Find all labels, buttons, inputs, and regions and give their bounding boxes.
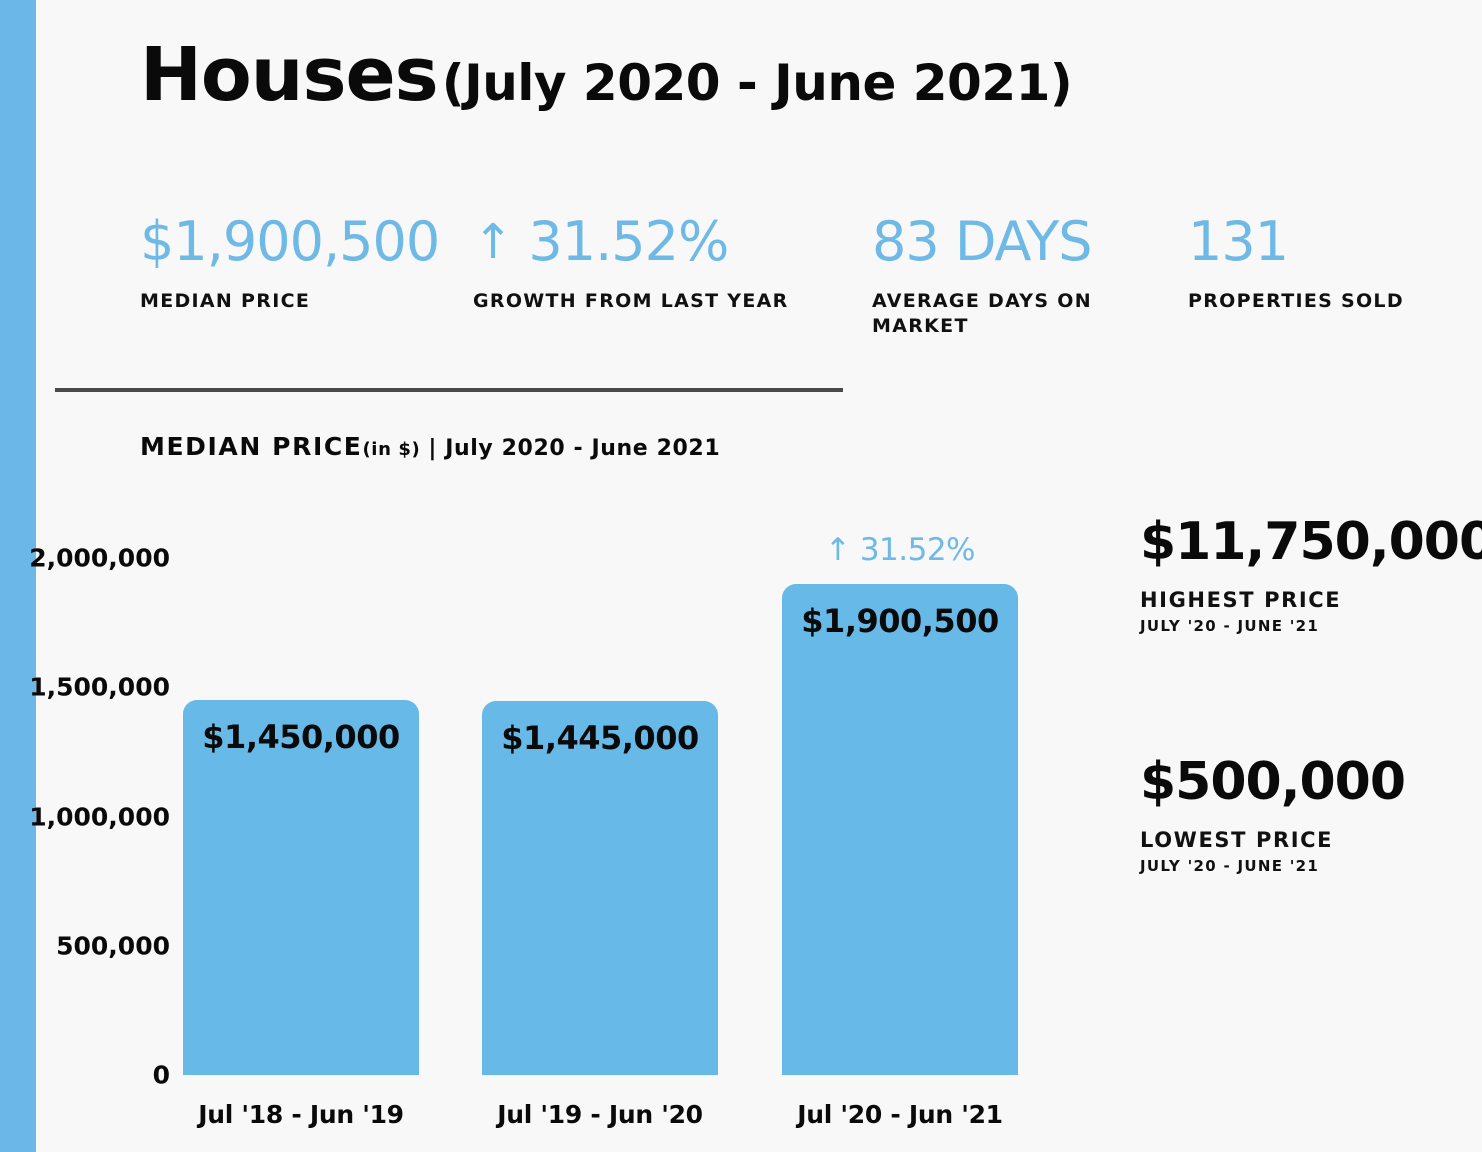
chart-bar-value-label: $1,900,500 (782, 602, 1018, 640)
chart-bar-growth-annotation: ↑ 31.52% (782, 532, 1018, 568)
section-divider (55, 388, 843, 392)
kpi-properties-sold: 131 PROPERTIES SOLD (1188, 214, 1448, 314)
lowest-price-stat: $500,000 LOWEST PRICE JULY '20 - JUNE '2… (1140, 756, 1480, 875)
chart-heading-range-text: July 2020 - June 2021 (445, 436, 720, 461)
lowest-price-period: JULY '20 - JUNE '21 (1140, 857, 1480, 875)
chart-heading: MEDIAN PRICE (in $) | July 2020 - June 2… (140, 432, 720, 461)
chart-heading-unit: (in $) (362, 439, 420, 460)
arrow-up-icon: ↑ (473, 217, 512, 267)
kpi-days-on-market-label: AVERAGE DAYS ON MARKET (872, 289, 1102, 340)
chart-bar[interactable]: $1,450,000 (183, 700, 419, 1075)
x-axis-category-label: Jul '19 - Jun '20 (482, 1100, 718, 1129)
chart-bar-group[interactable]: $1,450,000Jul '18 - Jun '19 (183, 700, 419, 1075)
chart-heading-separator: | (428, 436, 437, 461)
kpi-median-price: $1,900,500 MEDIAN PRICE (140, 214, 470, 314)
highest-price-stat: $11,750,000 HIGHEST PRICE JULY '20 - JUN… (1140, 516, 1480, 635)
kpi-growth: ↑ 31.52% GROWTH FROM LAST YEAR (473, 214, 863, 314)
chart-bar-group[interactable]: $1,445,000Jul '19 - Jun '20 (482, 701, 718, 1075)
left-accent-stripe (0, 0, 36, 1152)
x-axis-category-label: Jul '18 - Jun '19 (183, 1100, 419, 1129)
highest-price-value: $11,750,000 (1140, 516, 1480, 568)
highest-price-label: HIGHEST PRICE (1140, 588, 1480, 613)
infographic-page: Houses (July 2020 - June 2021) $1,900,50… (0, 0, 1482, 1152)
x-axis-category-label: Jul '20 - Jun '21 (782, 1100, 1018, 1129)
page-title: Houses (July 2020 - June 2021) (140, 38, 1072, 112)
title-main-text: Houses (140, 38, 438, 112)
highest-price-period: JULY '20 - JUNE '21 (1140, 617, 1480, 635)
kpi-median-price-label: MEDIAN PRICE (140, 289, 470, 315)
chart-bar-group[interactable]: $1,900,500↑ 31.52%Jul '20 - Jun '21 (782, 584, 1018, 1075)
lowest-price-label: LOWEST PRICE (1140, 828, 1480, 853)
kpi-properties-sold-value: 131 (1188, 214, 1448, 271)
chart-bar[interactable]: $1,900,500 (782, 584, 1018, 1075)
kpi-growth-number: 31.52% (528, 210, 728, 273)
chart-bar-value-label: $1,445,000 (482, 719, 718, 757)
kpi-median-price-value: $1,900,500 (140, 214, 470, 271)
chart-bar-value-label: $1,450,000 (183, 718, 419, 756)
kpi-growth-label: GROWTH FROM LAST YEAR (473, 289, 863, 315)
title-date-range: (July 2020 - June 2021) (442, 58, 1073, 108)
chart-heading-range: | July 2020 - June 2021 (428, 436, 720, 461)
kpi-growth-value: ↑ 31.52% (473, 214, 863, 271)
lowest-price-value: $500,000 (1140, 756, 1480, 808)
chart-heading-main: MEDIAN PRICE (140, 432, 362, 461)
kpi-days-on-market: 83 DAYS AVERAGE DAYS ON MARKET (872, 214, 1112, 340)
kpi-properties-sold-label: PROPERTIES SOLD (1188, 289, 1448, 315)
chart-bar[interactable]: $1,445,000 (482, 701, 718, 1075)
kpi-days-on-market-value: 83 DAYS (872, 214, 1112, 271)
